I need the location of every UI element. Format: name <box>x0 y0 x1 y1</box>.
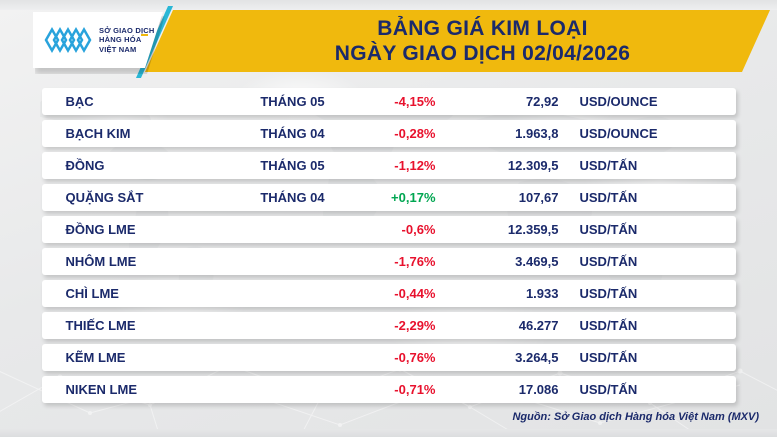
logo-plate: SỞ GIAO DỊCH HÀNG HÓA VIỆT NAM <box>33 12 163 68</box>
change-percent: -0,71% <box>342 382 436 397</box>
table-row[interactable]: KẼM LME-0,76%3.264,5USD/TẤN <box>42 344 736 371</box>
price-value: 3.469,5 <box>442 254 559 269</box>
price-unit: USD/TẤN <box>580 286 638 301</box>
logo-text: SỞ GIAO DỊCH HÀNG HÓA VIỆT NAM <box>99 26 154 55</box>
table-row[interactable]: NHÔM LME-1,76%3.469,5USD/TẤN <box>42 248 736 275</box>
price-value: 17.086 <box>442 382 559 397</box>
price-table: BẠCTHÁNG 05-4,15%72,92USD/OUNCEBẠCH KIMT… <box>0 88 777 408</box>
price-unit: USD/TẤN <box>580 350 638 365</box>
price-unit: USD/TẤN <box>580 222 638 237</box>
price-value: 72,92 <box>442 94 559 109</box>
contract-month: THÁNG 04 <box>238 190 348 205</box>
price-value: 3.264,5 <box>442 350 559 365</box>
contract-month: THÁNG 05 <box>238 94 348 109</box>
price-value: 107,67 <box>442 190 559 205</box>
change-percent: -4,15% <box>342 94 436 109</box>
price-unit: USD/OUNCE <box>580 94 658 109</box>
table-row[interactable]: THIẾC LME-2,29%46.277USD/TẤN <box>42 312 736 339</box>
price-board-page: BẢNG GIÁ KIM LOẠI NGÀY GIAO DỊCH 02/04/2… <box>0 0 777 437</box>
price-unit: USD/OUNCE <box>580 126 658 141</box>
change-percent: -0,6% <box>342 222 436 237</box>
commodity-name: BẠC <box>66 94 94 109</box>
commodity-name: NHÔM LME <box>66 254 137 269</box>
price-unit: USD/TẤN <box>580 318 638 333</box>
price-unit: USD/TẤN <box>580 382 638 397</box>
commodity-name: ĐỒNG <box>66 158 105 173</box>
commodity-name: NIKEN LME <box>66 382 138 397</box>
title-line-2: NGÀY GIAO DỊCH 02/04/2026 <box>335 41 630 66</box>
commodity-name: QUẶNG SẮT <box>66 190 144 205</box>
commodity-name: BẠCH KIM <box>66 126 131 141</box>
table-row[interactable]: ĐỒNGTHÁNG 05-1,12%12.309,5USD/TẤN <box>42 152 736 179</box>
change-percent: -1,12% <box>342 158 436 173</box>
price-value: 12.359,5 <box>442 222 559 237</box>
logo-text-line-3: VIỆT NAM <box>99 45 154 55</box>
change-percent: -1,76% <box>342 254 436 269</box>
header-banner: BẢNG GIÁ KIM LOẠI NGÀY GIAO DỊCH 02/04/2… <box>0 0 777 82</box>
commodity-name: CHÌ LME <box>66 286 119 301</box>
price-unit: USD/TẤN <box>580 158 638 173</box>
change-percent: -0,76% <box>342 350 436 365</box>
table-row[interactable]: CHÌ LME-0,44%1.933USD/TẤN <box>42 280 736 307</box>
change-percent: -2,29% <box>342 318 436 333</box>
table-row[interactable]: NIKEN LME-0,71%17.086USD/TẤN <box>42 376 736 403</box>
logo-dash-accent <box>141 34 148 36</box>
price-unit: USD/TẤN <box>580 254 638 269</box>
change-percent: +0,17% <box>342 190 436 205</box>
table-row[interactable]: ĐỒNG LME-0,6%12.359,5USD/TẤN <box>42 216 736 243</box>
price-value: 1.963,8 <box>442 126 559 141</box>
table-row[interactable]: QUẶNG SẮTTHÁNG 04+0,17%107,67USD/TẤN <box>42 184 736 211</box>
commodity-name: THIẾC LME <box>66 318 136 333</box>
price-value: 46.277 <box>442 318 559 333</box>
change-percent: -0,44% <box>342 286 436 301</box>
logo-text-line-2: HÀNG HÓA <box>99 35 154 45</box>
title-line-1: BẢNG GIÁ KIM LOẠI <box>377 16 587 41</box>
price-value: 1.933 <box>442 286 559 301</box>
contract-month: THÁNG 05 <box>238 158 348 173</box>
commodity-name: ĐỒNG LME <box>66 222 136 237</box>
price-value: 12.309,5 <box>442 158 559 173</box>
bottom-shade <box>0 429 777 437</box>
page-title: BẢNG GIÁ KIM LOẠI NGÀY GIAO DỊCH 02/04/2… <box>210 12 755 70</box>
contract-month: THÁNG 04 <box>238 126 348 141</box>
source-note: Nguồn: Sở Giao dịch Hàng hóa Việt Nam (M… <box>512 411 759 423</box>
price-unit: USD/TẤN <box>580 190 638 205</box>
commodity-name: KẼM LME <box>66 350 126 365</box>
change-percent: -0,28% <box>342 126 436 141</box>
table-row[interactable]: BẠCTHÁNG 05-4,15%72,92USD/OUNCE <box>42 88 736 115</box>
mxv-logo-icon <box>43 23 93 57</box>
table-row[interactable]: BẠCH KIMTHÁNG 04-0,28%1.963,8USD/OUNCE <box>42 120 736 147</box>
